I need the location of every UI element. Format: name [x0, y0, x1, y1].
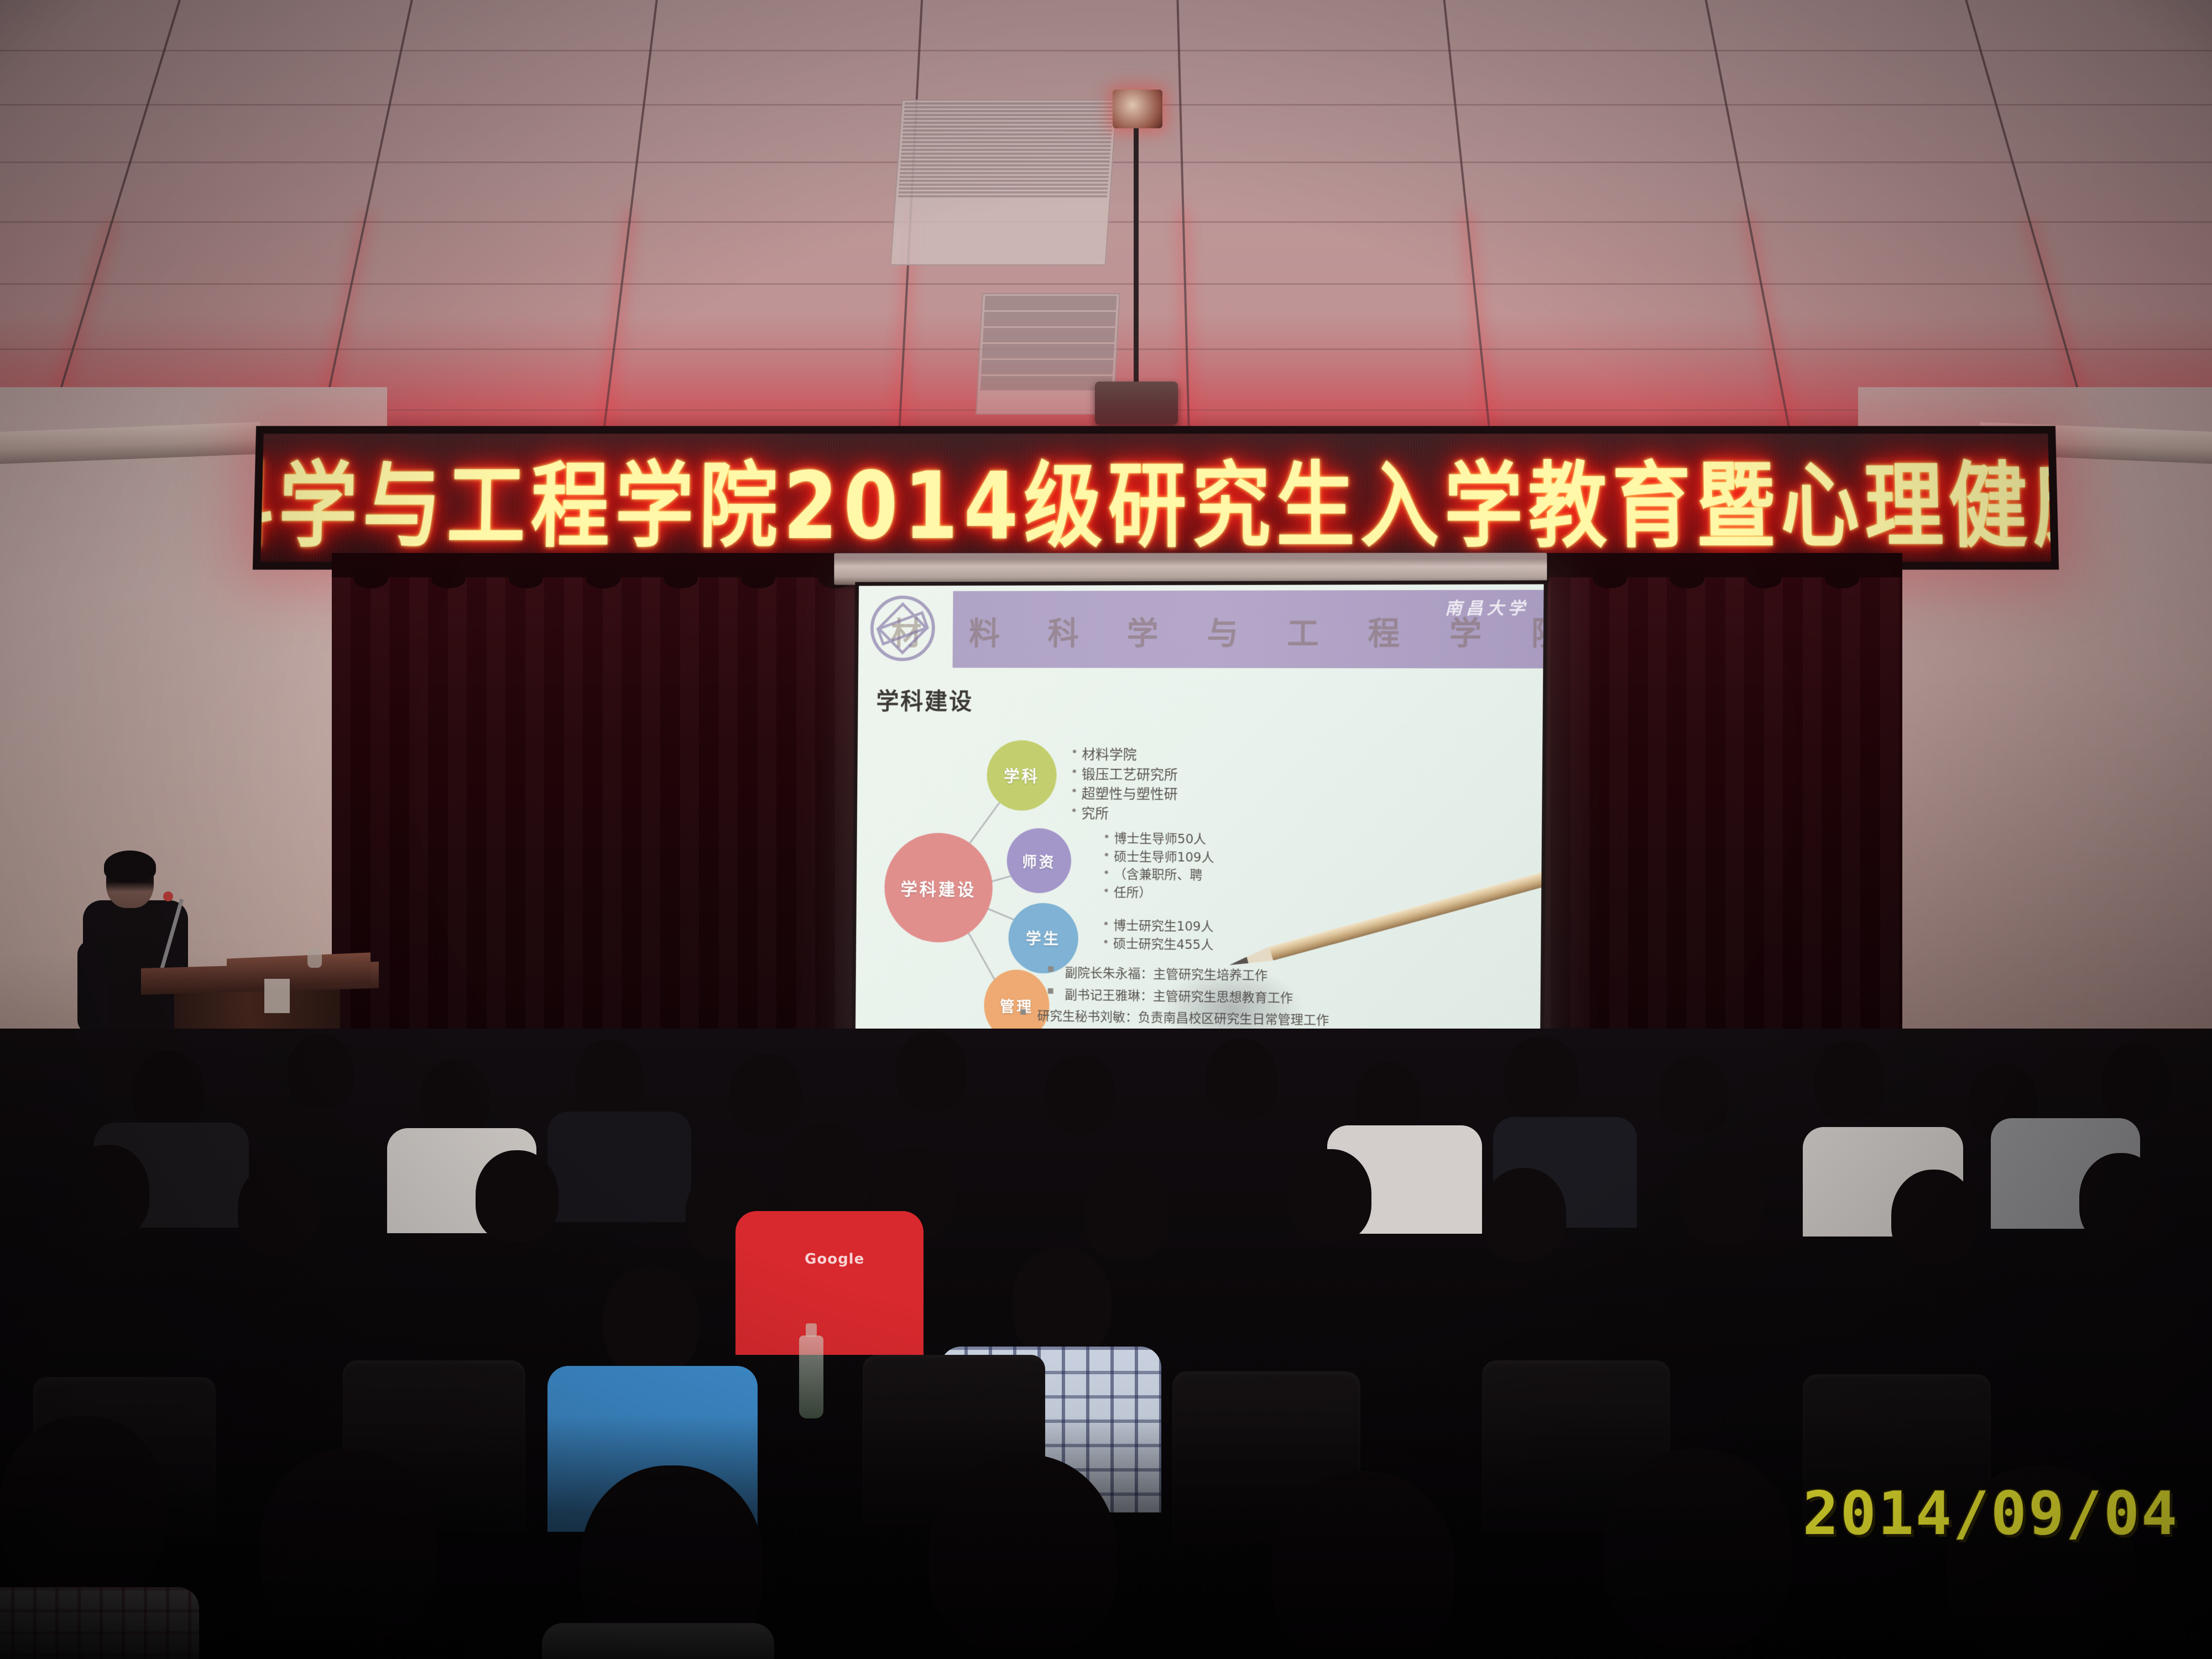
podium-side-table — [227, 952, 371, 989]
audience-head — [2079, 1153, 2162, 1246]
diagram-node-label: 学生 — [1026, 927, 1061, 950]
projection-screen: 南昌大学 材 料 科 学 与 工 程 学 院 学科建设 学科建设 学科 材料学院… — [855, 584, 1543, 1078]
bullet: 博士研究生109人 — [1101, 917, 1213, 936]
audience-head — [603, 1266, 700, 1375]
bullet-continuation: 任所） — [1102, 884, 1214, 903]
bullet: 硕士生导师109人 — [1102, 848, 1214, 867]
water-bottle — [799, 1335, 823, 1418]
audience-head — [420, 1059, 490, 1136]
audience-head — [1891, 1170, 1976, 1265]
audience-head — [1288, 1149, 1371, 1242]
audience-head — [476, 1150, 559, 1242]
diagram-node-bullets-discipline: 材料学院 锻压工艺研究所 超塑性与塑性研 究所 — [1070, 745, 1178, 824]
slide-section-title: 学科建设 — [876, 683, 973, 717]
led-banner: 材料科学与工程学院2014级研究生入学教育暨心理健康讲座 — [253, 426, 2059, 570]
audience-head — [575, 1040, 644, 1117]
diagram-node-label: 学科 — [1004, 764, 1040, 787]
tee-logo-text: Google — [805, 1251, 864, 1267]
audience-head — [1084, 1166, 1169, 1261]
speaker-hair — [104, 851, 156, 883]
audience-head — [896, 1031, 967, 1110]
audience-head — [730, 1053, 802, 1135]
led-banner-panel: 材料科学与工程学院2014级研究生入学教育暨心理健康讲座 — [260, 434, 2051, 562]
audience-torso — [547, 1112, 691, 1222]
university-crest-icon — [870, 596, 935, 661]
audience-head — [1482, 1168, 1566, 1262]
audience-head — [2101, 1043, 2171, 1121]
audience-head — [288, 1034, 354, 1109]
podium-cup — [307, 949, 322, 968]
diagram-node-label: 师资 — [1022, 850, 1056, 872]
diagram-center-bubble: 学科建设 — [884, 832, 993, 943]
ceiling — [0, 0, 2212, 437]
audience-head — [1045, 1055, 1115, 1134]
audience-head — [782, 1123, 871, 1222]
audience-head — [1659, 1056, 1729, 1135]
pencil-graphic-icon — [1269, 870, 1544, 961]
bullet: 超塑性与塑性研 — [1070, 784, 1178, 805]
photo-scene: 材料科学与工程学院2014级研究生入学教育暨心理健康讲座 南昌大学 材 料 科 … — [0, 0, 2212, 1659]
diagram-center-label: 学科建设 — [900, 875, 976, 900]
diagram-node-bullets-faculty: 博士生导师50人 硕士生导师109人 （含兼职所、聘 任所） — [1102, 830, 1214, 903]
microphone-head-icon — [163, 891, 173, 901]
led-banner-text: 材料科学与工程学院2014级研究生入学教育暨心理健康讲座 — [260, 434, 2051, 562]
projection-screen-housing — [834, 553, 1547, 586]
audience-head — [1206, 1039, 1277, 1119]
bullet-continuation: （含兼职所、聘 — [1102, 866, 1214, 885]
audience-head — [1012, 1247, 1112, 1358]
presentation-slide: 南昌大学 材 料 科 学 与 工 程 学 院 学科建设 学科建设 学科 材料学院… — [855, 584, 1543, 1078]
audience-head — [1504, 1036, 1578, 1119]
diagram-node-faculty: 师资 — [1006, 828, 1071, 893]
ceiling-projector — [1095, 382, 1178, 425]
bullet: 博士生导师50人 — [1102, 830, 1214, 849]
speaker-arm — [77, 940, 109, 1034]
audience-torso-google-tee — [735, 1211, 924, 1355]
ceiling-fixture — [1113, 90, 1162, 128]
camera-date-stamp: 2014/09/04 — [1803, 1479, 2179, 1548]
bullet: 锻压工艺研究所 — [1070, 764, 1178, 784]
diagram-node-discipline: 学科 — [987, 740, 1057, 811]
audience-head — [1681, 1151, 1764, 1244]
audience-head — [238, 1164, 319, 1255]
slide-band-title: 材 料 科 学 与 工 程 学 院 — [890, 608, 1543, 654]
ceiling-air-vent — [890, 100, 1118, 265]
projector-mount-pole — [1134, 128, 1139, 388]
bullet: 材料学院 — [1070, 745, 1178, 765]
podium-papers — [264, 979, 290, 1013]
audience-head — [1814, 1041, 1885, 1120]
diagram-node-bullets-students: 博士研究生109人 硕士研究生455人 — [1101, 917, 1213, 954]
audience-seating-area: Google — [0, 1029, 2212, 1659]
audience-head — [66, 1145, 149, 1238]
bullet: 硕士研究生455人 — [1101, 935, 1213, 954]
audience-head — [133, 1051, 205, 1131]
bullet-continuation: 究所 — [1070, 804, 1178, 824]
